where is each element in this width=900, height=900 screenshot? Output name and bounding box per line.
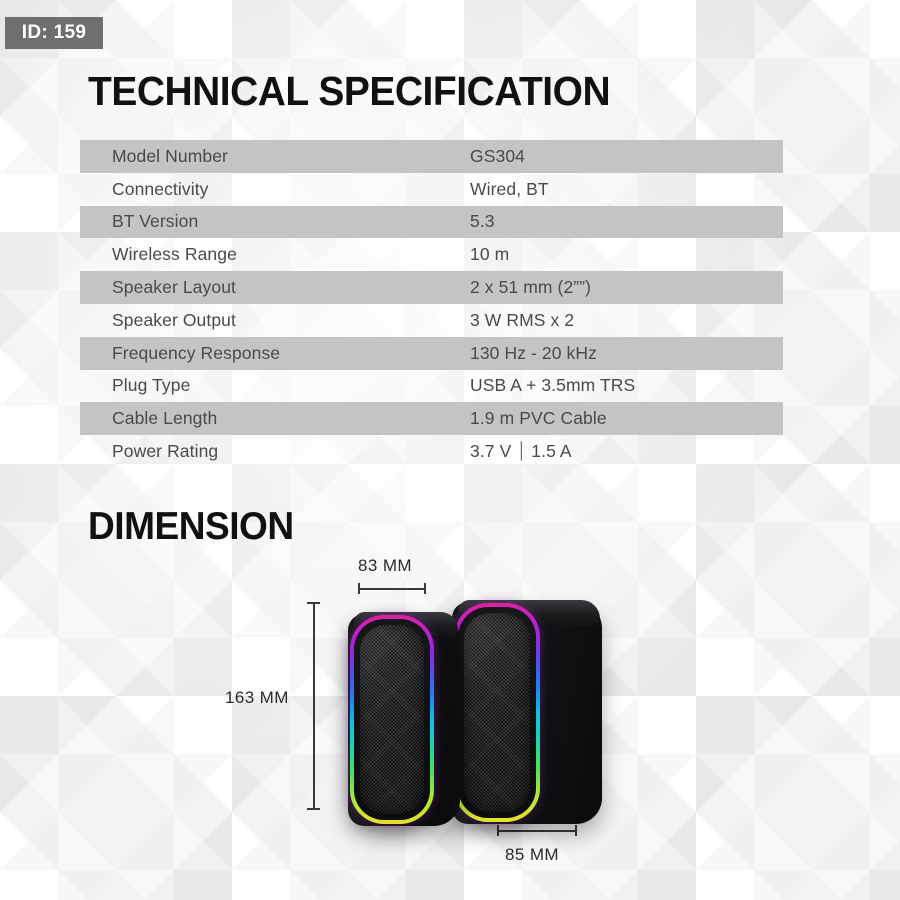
- table-row: Speaker Layout2 x 51 mm (2””): [80, 271, 783, 304]
- dimension-line-height: [313, 602, 315, 809]
- dimension-line-width: [358, 588, 426, 590]
- spec-value: GS304: [470, 146, 783, 167]
- table-row: ConnectivityWired, BT: [80, 173, 783, 206]
- specification-table: Model NumberGS304ConnectivityWired, BTBT…: [80, 140, 783, 468]
- spec-label: Speaker Output: [80, 310, 470, 331]
- spec-label: Plug Type: [80, 375, 470, 396]
- spec-label: BT Version: [80, 211, 470, 232]
- spec-value: 10 m: [470, 244, 783, 265]
- table-row: Cable Length1.9 m PVC Cable: [80, 402, 783, 435]
- spec-value: 3 W RMS x 2: [470, 310, 783, 331]
- spec-value: 2 x 51 mm (2””): [470, 277, 783, 298]
- spec-label: Model Number: [80, 146, 470, 167]
- table-row: Speaker Output3 W RMS x 2: [80, 304, 783, 337]
- spec-label: Cable Length: [80, 408, 470, 429]
- spec-label: Power Rating: [80, 441, 470, 462]
- dimension-label-width: 83 MM: [358, 556, 412, 576]
- dimension-cap-height-top: [307, 602, 320, 604]
- table-row: Model NumberGS304: [80, 140, 783, 173]
- spec-value: 130 Hz - 20 kHz: [470, 343, 783, 364]
- dimension-label-height: 163 MM: [225, 688, 289, 708]
- spec-label: Frequency Response: [80, 343, 470, 364]
- id-badge: ID: 159: [5, 17, 103, 49]
- spec-value: 3.7 V ⏐ 1.5 A: [470, 441, 783, 462]
- spec-value: 1.9 m PVC Cable: [470, 408, 783, 429]
- dimension-label-depth: 85 MM: [505, 845, 559, 865]
- speaker-grille-left: [360, 625, 424, 814]
- table-row: Plug TypeUSB A + 3.5mm TRS: [80, 370, 783, 403]
- dimension-cap-height-bottom: [307, 808, 320, 810]
- table-row: Power Rating3.7 V ⏐ 1.5 A: [80, 435, 783, 468]
- dimension-section-title: DIMENSION: [88, 505, 294, 549]
- speaker-grille-right: [464, 613, 530, 812]
- table-row: Frequency Response130 Hz - 20 kHz: [80, 337, 783, 370]
- spec-label: Connectivity: [80, 179, 470, 200]
- spec-value: 5.3: [470, 211, 783, 232]
- product-image-speaker-pair: [340, 592, 610, 832]
- spec-value: Wired, BT: [470, 179, 783, 200]
- spec-sheet-page: ID: 159 TECHNICAL SPECIFICATION Model Nu…: [0, 0, 900, 900]
- table-row: Wireless Range10 m: [80, 238, 783, 271]
- spec-label: Wireless Range: [80, 244, 470, 265]
- spec-label: Speaker Layout: [80, 277, 470, 298]
- page-title: TECHNICAL SPECIFICATION: [88, 68, 610, 115]
- table-row: BT Version5.3: [80, 206, 783, 239]
- spec-value: USB A + 3.5mm TRS: [470, 375, 783, 396]
